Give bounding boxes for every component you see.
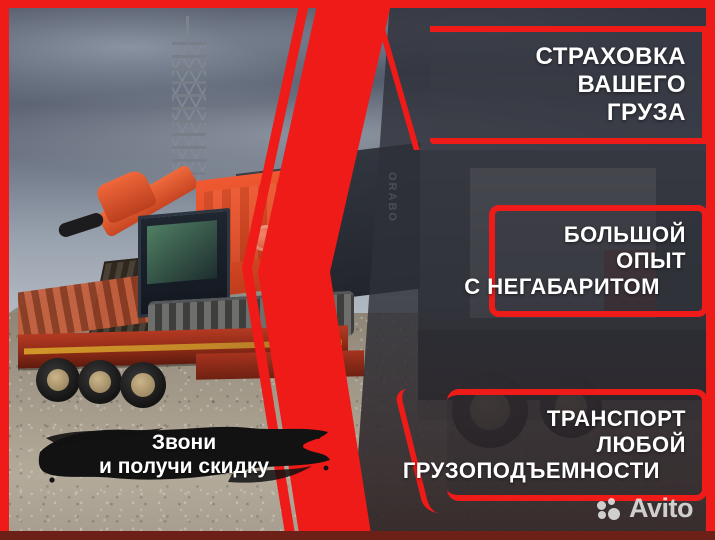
feature-box-insurance: СТРАХОВКА ВАШЕГО ГРУЗА [430, 26, 708, 144]
avito-dots-icon [597, 498, 623, 520]
brush-banner-line1: Звони [152, 431, 216, 455]
feature-box-capacity: ТРАНСПОРТ ЛЮБОЙ ГРУЗОПОДЪЕМНОСТИ [447, 389, 708, 501]
border-right [706, 0, 715, 540]
feature-box-experience-text: БОЛЬШОЙ ОПЫТ С НЕГАБАРИТОМ [490, 222, 686, 300]
trailer-wheel [120, 362, 166, 408]
trailer-wheel [78, 360, 122, 404]
border-top [0, 0, 715, 8]
feature-line: СТРАХОВКА [536, 43, 687, 71]
avito-wordmark: Avito [629, 493, 693, 524]
feature-box-capacity-text: ТРАНСПОРТ ЛЮБОЙ ГРУЗОПОДЪЕМНОСТИ [429, 406, 686, 484]
feature-line: ТРАНСПОРТ [429, 406, 686, 432]
feature-line: ЛЮБОЙ [429, 432, 686, 458]
trailer-wheel [36, 358, 80, 402]
feature-box-experience: БОЛЬШОЙ ОПЫТ С НЕГАБАРИТОМ [489, 205, 708, 317]
brush-banner-line2: и получи скидку [99, 455, 269, 479]
feature-box-insurance-text: СТРАХОВКА ВАШЕГО ГРУЗА [536, 43, 687, 128]
feature-line: ГРУЗА [536, 99, 687, 127]
feature-line: ОПЫТ [490, 248, 686, 274]
border-left [0, 0, 9, 540]
brush-banner-text: Звони и получи скидку [36, 416, 332, 494]
feature-line: С НЕГАБАРИТОМ [464, 274, 660, 300]
advertisement-banner: ORABO group СТРАХОВКА ВАШЕГО ГРУЗА БОЛЬШ… [0, 0, 715, 540]
avito-watermark: Avito [597, 493, 693, 524]
feature-line: ВАШЕГО [536, 71, 687, 99]
feature-line: ГРУЗОПОДЪЕМНОСТИ [403, 458, 660, 484]
call-to-action-brush-banner: Звони и получи скидку [36, 416, 332, 494]
border-bottom [0, 531, 715, 540]
feature-line: БОЛЬШОЙ [490, 222, 686, 248]
